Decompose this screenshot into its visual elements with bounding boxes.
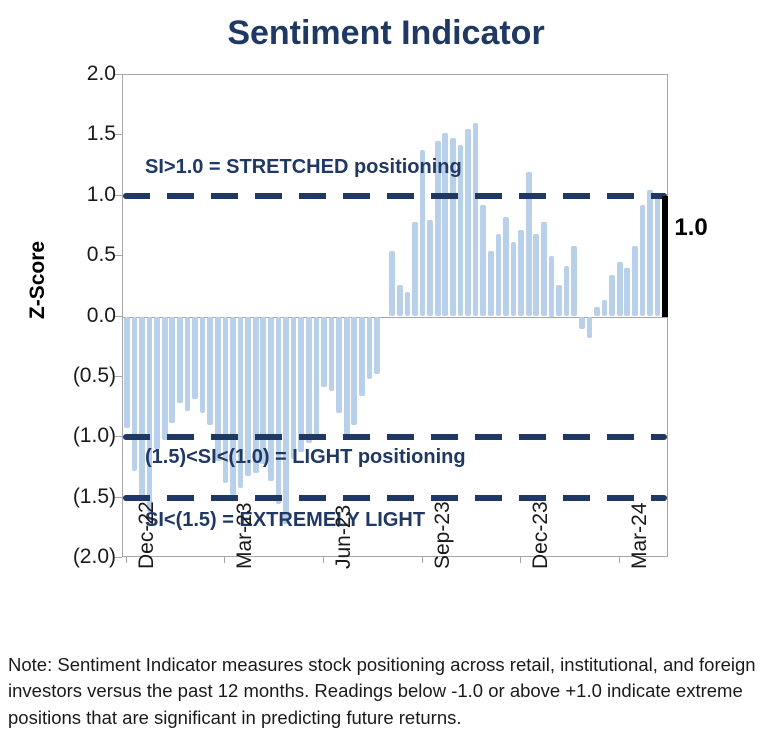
bar bbox=[276, 317, 282, 504]
y-tick-mark bbox=[115, 134, 122, 135]
y-tick-mark bbox=[115, 255, 122, 256]
y-tick-label: (2.0) bbox=[42, 545, 116, 569]
bar bbox=[609, 275, 615, 316]
plot-area: SI>1.0 = STRETCHED positioning(1.5)<SI<(… bbox=[122, 74, 668, 557]
bar-series bbox=[123, 75, 667, 556]
x-tick-mark bbox=[323, 557, 324, 563]
bar bbox=[602, 300, 608, 317]
y-tick-label: 1.5 bbox=[42, 122, 116, 146]
bar bbox=[192, 317, 198, 399]
y-tick-mark bbox=[115, 376, 122, 377]
bar bbox=[556, 285, 562, 316]
bar bbox=[594, 307, 600, 317]
bar bbox=[139, 317, 145, 501]
bar bbox=[480, 205, 486, 316]
chart-footnote: Note: Sentiment Indicator measures stock… bbox=[8, 652, 764, 731]
bar bbox=[549, 256, 555, 316]
y-tick-label: 0.5 bbox=[42, 243, 116, 267]
y-tick-mark bbox=[115, 436, 122, 437]
bar bbox=[617, 262, 623, 316]
bar bbox=[564, 266, 570, 317]
bar bbox=[571, 246, 577, 316]
bar bbox=[207, 317, 213, 426]
bar bbox=[329, 317, 335, 392]
x-tick-mark bbox=[422, 557, 423, 563]
x-tick-label: Dec-23 bbox=[529, 501, 553, 569]
y-tick-label: 0.0 bbox=[42, 304, 116, 328]
current-value-marker bbox=[662, 196, 668, 317]
plot-annotation: (1.5)<SI<(1.0) = LIGHT positioning bbox=[145, 446, 466, 469]
bar bbox=[169, 317, 175, 423]
bar bbox=[344, 317, 350, 440]
bar bbox=[541, 222, 547, 316]
bar bbox=[632, 246, 638, 316]
bar bbox=[427, 220, 433, 317]
x-tick-label: Mar-23 bbox=[233, 502, 257, 569]
plot-annotation: SI<(1.5) = EXTREMELY LIGHT bbox=[145, 509, 425, 532]
bar bbox=[306, 317, 312, 444]
bar bbox=[200, 317, 206, 414]
y-tick-mark bbox=[115, 497, 122, 498]
bar bbox=[647, 190, 653, 317]
x-tick-label: Dec-22 bbox=[135, 501, 159, 569]
bar bbox=[655, 198, 661, 316]
y-axis-labels: (2.0)(1.5)(1.0)(0.5)0.00.51.01.52.0 bbox=[34, 74, 116, 557]
threshold-line bbox=[123, 495, 667, 501]
y-tick-mark bbox=[115, 195, 122, 196]
bar bbox=[533, 234, 539, 316]
bar bbox=[389, 251, 395, 316]
y-tick-label: 2.0 bbox=[42, 62, 116, 86]
bar bbox=[351, 317, 357, 426]
y-tick-mark bbox=[115, 74, 122, 75]
x-tick-mark bbox=[520, 557, 521, 563]
threshold-line bbox=[123, 193, 667, 199]
y-tick-label: (0.5) bbox=[42, 364, 116, 388]
y-tick-label: 1.0 bbox=[42, 183, 116, 207]
bar bbox=[124, 317, 130, 428]
bar bbox=[147, 317, 153, 513]
sentiment-indicator-chart: Sentiment Indicator Z-Score (2.0)(1.5)(1… bbox=[0, 0, 772, 748]
bar bbox=[624, 268, 630, 316]
bar bbox=[298, 317, 304, 452]
current-value-label: 1.0 bbox=[674, 214, 707, 242]
bar bbox=[496, 234, 502, 316]
bar bbox=[359, 317, 365, 397]
y-tick-mark bbox=[115, 557, 122, 558]
bar bbox=[314, 317, 320, 435]
x-tick-mark bbox=[224, 557, 225, 563]
y-tick-label: (1.5) bbox=[42, 485, 116, 509]
y-tick-mark bbox=[115, 316, 122, 317]
bar bbox=[412, 222, 418, 316]
x-tick-label: Mar-24 bbox=[628, 502, 652, 569]
x-tick-label: Jun-23 bbox=[332, 505, 356, 569]
bar bbox=[488, 251, 494, 316]
bar bbox=[518, 230, 524, 317]
plot-annotation: SI>1.0 = STRETCHED positioning bbox=[145, 156, 462, 179]
threshold-line bbox=[123, 434, 667, 440]
bar bbox=[503, 217, 509, 316]
chart-title: Sentiment Indicator bbox=[0, 14, 772, 53]
bar bbox=[374, 317, 380, 375]
bar bbox=[132, 317, 138, 472]
bar bbox=[405, 292, 411, 316]
bar bbox=[260, 317, 266, 464]
bar bbox=[473, 123, 479, 316]
bar bbox=[177, 317, 183, 404]
bar bbox=[154, 317, 160, 450]
y-tick-label: (1.0) bbox=[42, 424, 116, 448]
bar bbox=[587, 317, 593, 339]
bar bbox=[367, 317, 373, 380]
bar bbox=[336, 317, 342, 414]
bar bbox=[321, 317, 327, 387]
x-tick-mark bbox=[619, 557, 620, 563]
bar bbox=[185, 317, 191, 411]
bar bbox=[162, 317, 168, 440]
bar bbox=[511, 242, 517, 317]
bar bbox=[283, 317, 289, 525]
bar bbox=[579, 317, 585, 329]
bar bbox=[640, 205, 646, 316]
bar bbox=[397, 285, 403, 316]
x-tick-label: Sep-23 bbox=[431, 501, 455, 569]
x-tick-mark bbox=[126, 557, 127, 563]
bar bbox=[465, 129, 471, 316]
